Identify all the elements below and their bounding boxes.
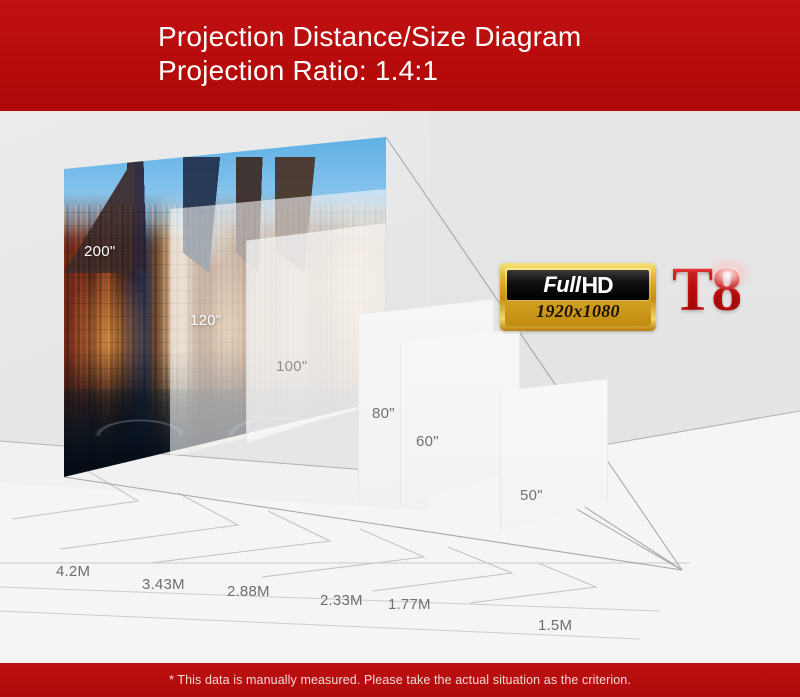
- label-distance-2-33m: 2.33M: [320, 592, 363, 609]
- label-size-100: 100": [276, 358, 308, 375]
- model-logo-t8: T8: [672, 259, 740, 321]
- fullhd-badge-inner: Full HD 1920x1080: [505, 268, 651, 326]
- projection-diagram-page: Projection Distance/Size Diagram Project…: [0, 0, 800, 697]
- label-distance-3-43m: 3.43M: [142, 576, 185, 593]
- label-distance-1-77m: 1.77M: [388, 596, 431, 613]
- fullhd-resolution: 1920x1080: [507, 300, 649, 322]
- label-size-50: 50": [520, 487, 543, 504]
- label-size-200: 200": [84, 243, 116, 260]
- projection-ratio-subtitle: Projection Ratio: 1.4:1: [158, 54, 581, 88]
- header-banner: Projection Distance/Size Diagram Project…: [0, 0, 800, 111]
- label-size-120: 120": [190, 312, 222, 329]
- screen-50-inch: [500, 379, 608, 531]
- label-size-80: 80": [372, 405, 395, 422]
- label-distance-2-88m: 2.88M: [227, 583, 270, 600]
- label-distance-1-5m: 1.5M: [538, 617, 572, 634]
- label-distance-4-2m: 4.2M: [56, 563, 90, 580]
- page-title: Projection Distance/Size Diagram: [158, 20, 581, 54]
- fullhd-word-full: Full: [543, 272, 580, 298]
- diagram-scene: 200" 120" 100" 80" 60" 50" 4.2M 3.43M 2.…: [0, 111, 800, 663]
- fullhd-badge: Full HD 1920x1080: [500, 263, 656, 331]
- footer-disclaimer: * This data is manually measured. Please…: [0, 663, 800, 697]
- footer-banner: * This data is manually measured. Please…: [0, 663, 800, 697]
- fullhd-word-hd: HD: [581, 272, 612, 299]
- header-title-block: Projection Distance/Size Diagram Project…: [158, 20, 581, 88]
- screen-stack: 200" 120" 100" 80" 60" 50" 4.2M 3.43M 2.…: [0, 111, 800, 663]
- projector-and-stand: [612, 654, 800, 663]
- fullhd-wordmark: Full HD: [507, 270, 649, 300]
- label-size-60: 60": [416, 433, 439, 450]
